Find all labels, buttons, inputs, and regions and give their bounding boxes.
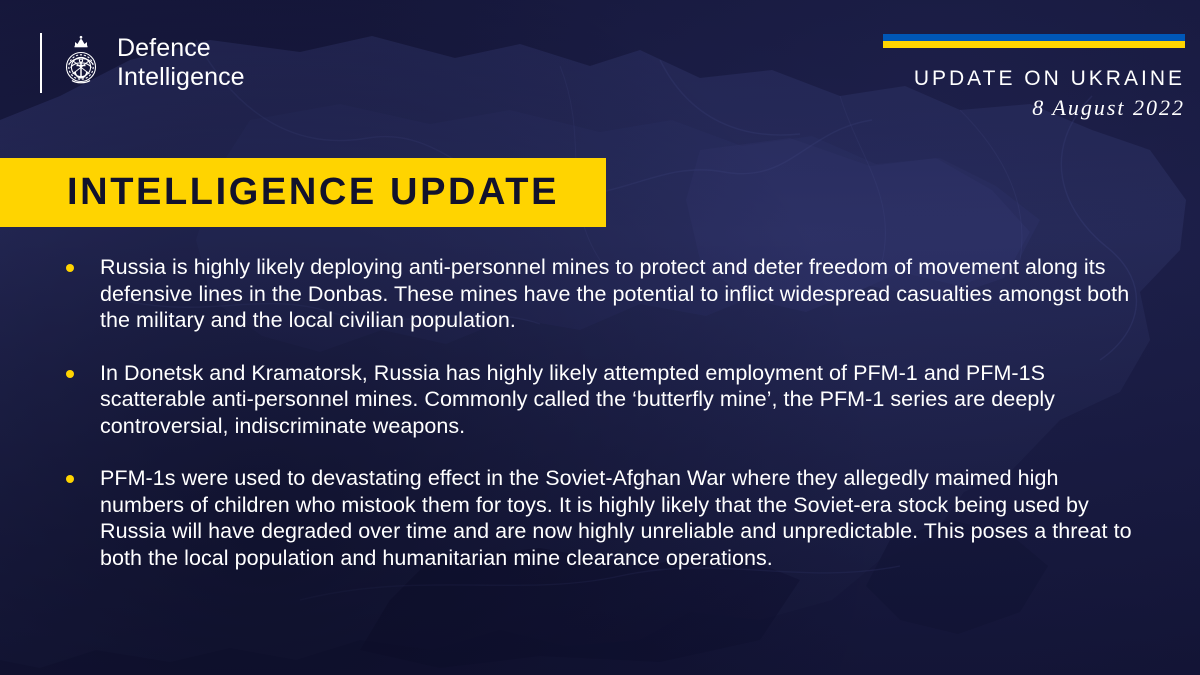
update-header-block: UPDATE ON UKRAINE 8 August 2022 [865, 34, 1185, 122]
bullet-list: Russia is highly likely deploying anti-p… [66, 254, 1141, 571]
logo-wordmark: Defence Intelligence [117, 34, 245, 92]
logo-line-intelligence: Intelligence [117, 63, 245, 92]
intelligence-update-graphic: Defence Intelligence UPDATE ON UKRAINE 8… [0, 0, 1200, 675]
bullet-text: PFM-1s were used to devastating effect i… [100, 465, 1141, 571]
list-item: Russia is highly likely deploying anti-p… [66, 254, 1141, 334]
bullet-text: Russia is highly likely deploying anti-p… [100, 254, 1141, 334]
bullet-marker-icon [66, 254, 100, 334]
update-date: 8 August 2022 [865, 94, 1185, 122]
defence-intelligence-logo: Defence Intelligence [40, 33, 245, 93]
bullet-text: In Donetsk and Kramatorsk, Russia has hi… [100, 360, 1141, 440]
logo-divider-rule [40, 33, 42, 93]
bullet-marker-icon [66, 360, 100, 440]
update-on-ukraine-label: UPDATE ON UKRAINE [865, 66, 1185, 91]
page-title: INTELLIGENCE UPDATE [0, 171, 559, 214]
list-item: PFM-1s were used to devastating effect i… [66, 465, 1141, 571]
flag-stripe-blue [883, 34, 1185, 41]
logo-line-defence: Defence [117, 34, 245, 63]
bullet-marker-icon [66, 465, 100, 571]
mod-crest-icon [58, 34, 104, 92]
list-item: In Donetsk and Kramatorsk, Russia has hi… [66, 360, 1141, 440]
intelligence-update-banner: INTELLIGENCE UPDATE [0, 158, 606, 227]
ukraine-flag-bar [883, 34, 1185, 48]
flag-stripe-yellow [883, 41, 1185, 48]
